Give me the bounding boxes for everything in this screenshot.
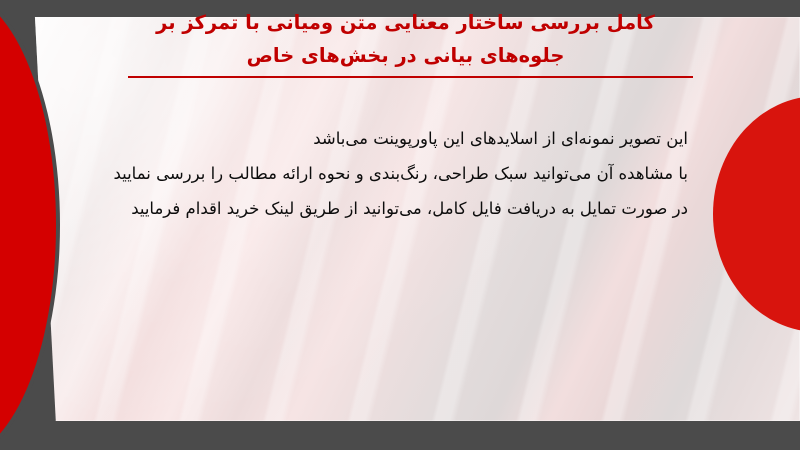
slide-title-line-1: کامل بررسی ساختار معنایی متن وميانی با ت… (118, 6, 693, 39)
slide-title-line-2: جلوه‌های بیانی در بخش‌های خاص (118, 39, 693, 72)
slide-title: کامل بررسی ساختار معنایی متن وميانی با ت… (118, 6, 693, 72)
body-line-1: این تصویر نمونه‌ای از اسلایدهای این پاور… (88, 121, 688, 156)
slide-body-text: این تصویر نمونه‌ای از اسلایدهای این پاور… (88, 121, 688, 226)
body-line-2: با مشاهده آن می‌توانید سبک طراحی، رنگ‌بن… (88, 156, 688, 191)
presentation-slide: کامل بررسی ساختار معنایی متن وميانی با ت… (0, 0, 800, 450)
title-underline-rule (128, 76, 693, 78)
body-line-3: در صورت تمایل به دریافت فایل کامل، می‌تو… (88, 191, 688, 226)
